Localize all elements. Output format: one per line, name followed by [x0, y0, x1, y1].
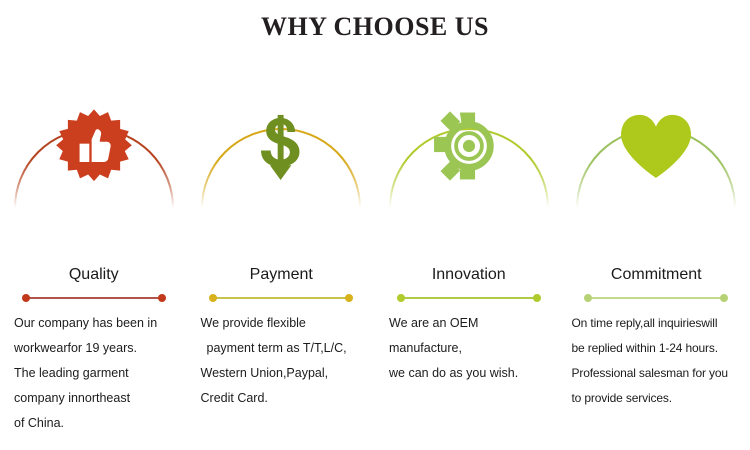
column-body-commitment: On time reply,all inquirieswill be repli…: [563, 311, 750, 411]
arc-and-icon-innovation: [375, 58, 563, 254]
feature-columns: Quality Our company has been in workwear…: [0, 58, 750, 450]
arc-and-icon-quality: [0, 58, 188, 254]
icon-holder-quality: [54, 106, 134, 186]
body-line: Professional salesman for you: [572, 361, 739, 386]
column-heading-innovation: Innovation: [375, 266, 563, 284]
divider-dot-right: [345, 294, 353, 302]
arc-and-icon-commitment: [563, 58, 750, 254]
body-line: We are an OEM: [389, 311, 551, 336]
body-line: company innortheast: [14, 386, 176, 411]
divider-dot-right: [533, 294, 541, 302]
column-heading-commitment: Commitment: [563, 266, 750, 284]
body-line: workwearfor 19 years.: [14, 336, 176, 361]
divider-dot-left: [584, 294, 592, 302]
divider-bar: [588, 297, 724, 299]
divider-bar: [26, 297, 162, 299]
feature-column-commitment: Commitment On time reply,all inquirieswi…: [563, 58, 750, 450]
arc-and-icon-payment: [188, 58, 376, 254]
divider-dot-left: [22, 294, 30, 302]
heart-icon: [618, 111, 694, 181]
divider-dot-right: [720, 294, 728, 302]
dollar-arrow-icon: [244, 109, 318, 183]
divider-bar: [213, 297, 349, 299]
divider-rule-quality: [22, 294, 166, 302]
column-body-innovation: We are an OEM manufacture, we can do as …: [375, 311, 563, 386]
gear-target-icon: [431, 108, 507, 184]
thumbs-up-badge-icon: [55, 107, 133, 185]
divider-dot-right: [158, 294, 166, 302]
icon-holder-commitment: [616, 106, 696, 186]
divider-rule-payment: [209, 294, 353, 302]
body-line: On time reply,all inquirieswill: [572, 311, 739, 336]
body-line: be replied within 1-24 hours.: [572, 336, 739, 361]
divider-rule-commitment: [584, 294, 728, 302]
feature-column-payment: Payment We provide flexible payment term…: [188, 58, 376, 450]
column-heading-payment: Payment: [188, 266, 376, 284]
divider-bar: [401, 297, 537, 299]
icon-holder-payment: [241, 106, 321, 186]
body-line: we can do as you wish.: [389, 361, 551, 386]
column-heading-quality: Quality: [0, 266, 188, 284]
body-line: payment term as T/T,L/C,: [201, 336, 364, 361]
feature-column-innovation: Innovation We are an OEM manufacture, we…: [375, 58, 563, 450]
body-line: to provide services.: [572, 386, 739, 411]
body-line: We provide flexible: [201, 311, 364, 336]
why-choose-us-page: WHY CHOOSE US: [0, 0, 750, 450]
divider-dot-left: [397, 294, 405, 302]
page-title: WHY CHOOSE US: [0, 12, 750, 42]
column-body-payment: We provide flexible payment term as T/T,…: [188, 311, 376, 411]
divider-rule-innovation: [397, 294, 541, 302]
column-body-quality: Our company has been in workwearfor 19 y…: [0, 311, 188, 436]
body-line: Western Union,Paypal,: [201, 361, 364, 386]
divider-dot-left: [209, 294, 217, 302]
body-line: manufacture,: [389, 336, 551, 361]
body-line: Our company has been in: [14, 311, 176, 336]
body-line: The leading garment: [14, 361, 176, 386]
body-line: of China.: [14, 411, 176, 436]
icon-holder-innovation: [429, 106, 509, 186]
feature-column-quality: Quality Our company has been in workwear…: [0, 58, 188, 450]
body-line: Credit Card.: [201, 386, 364, 411]
